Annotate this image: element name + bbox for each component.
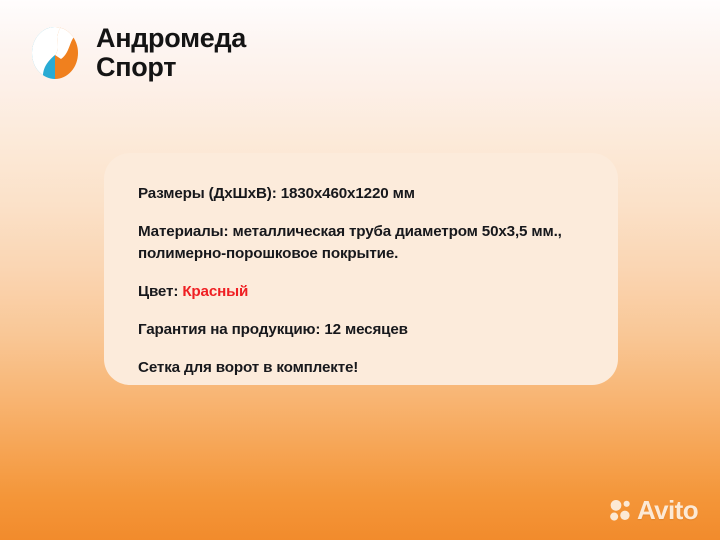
avito-watermark: Avito: [609, 497, 698, 523]
brand-name-line1: Андромеда: [96, 24, 246, 53]
brand-name-line2: Спорт: [96, 53, 246, 82]
spec-label-warranty: Гарантия на продукцию:: [138, 321, 320, 338]
spec-row-materials: Материалы: металлическая труба диаметром…: [138, 221, 584, 264]
spec-label-color: Цвет:: [138, 283, 178, 300]
spec-row-net-included: Сетка для ворот в комплекте!: [138, 357, 584, 378]
promo-image-canvas: Андромеда Спорт Размеры (ДхШхВ): 1830x46…: [0, 0, 720, 540]
spec-value-warranty: 12 месяцев: [324, 321, 408, 338]
spec-label-dimensions: Размеры (ДхШхВ):: [138, 185, 277, 202]
brand-name: Андромеда Спорт: [96, 24, 246, 81]
brand-lockup: Андромеда Спорт: [28, 24, 246, 81]
spec-row-warranty: Гарантия на продукцию: 12 месяцев: [138, 319, 584, 340]
spec-row-color: Цвет: Красный: [138, 281, 584, 302]
spec-label-materials: Материалы:: [138, 223, 228, 240]
spec-label-net-included: Сетка для ворот в комплекте!: [138, 359, 358, 376]
avito-wordmark: Avito: [637, 497, 698, 523]
spec-value-color: Красный: [182, 283, 248, 300]
spec-row-dimensions: Размеры (ДхШхВ): 1830x460x1220 мм: [138, 183, 584, 204]
avito-dots-icon: [609, 499, 632, 522]
andromeda-circle-logo-icon: [28, 25, 82, 81]
spec-value-dimensions: 1830x460x1220 мм: [281, 185, 415, 202]
specification-card: Размеры (ДхШхВ): 1830x460x1220 мм Матери…: [104, 153, 618, 385]
